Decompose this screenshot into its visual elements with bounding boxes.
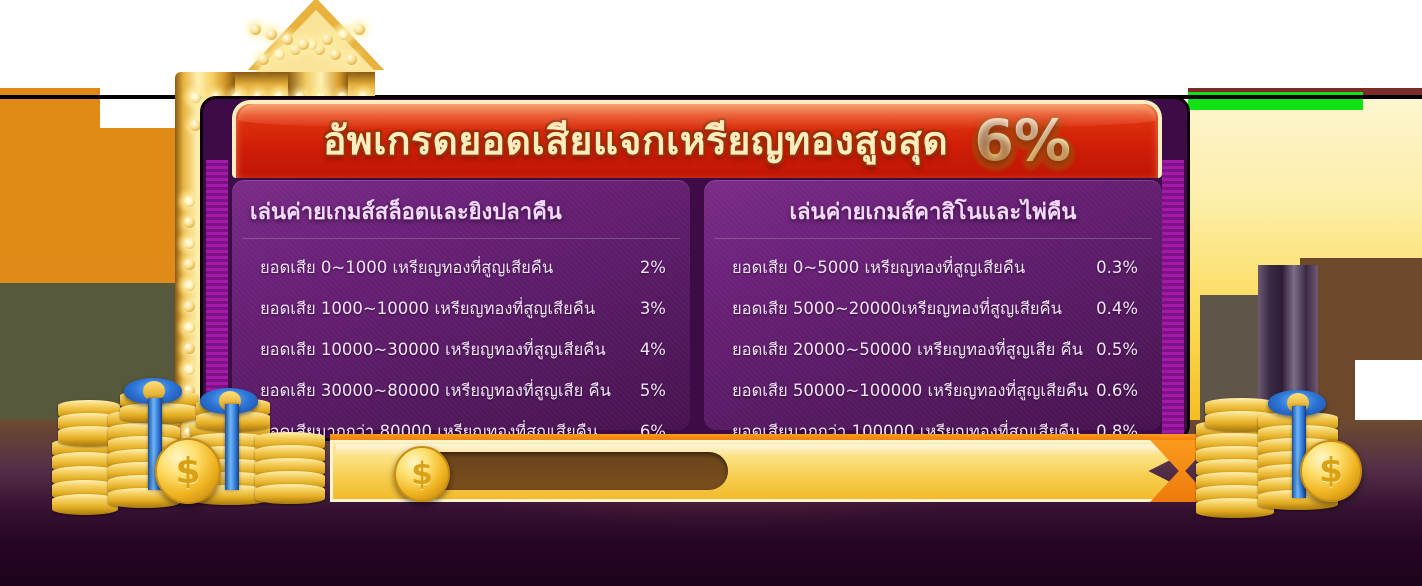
rate-description: ยอดเสีย 0~1000 เหรียญทองที่สูญเสียคืน (246, 255, 553, 281)
marquee-bulb-icon (330, 49, 341, 60)
marquee-bulb-icon (184, 217, 195, 228)
marquee-bulb-icon (250, 24, 261, 35)
sparkle (176, 356, 202, 382)
sparkle (176, 188, 202, 214)
rate-value: 0.4% (1096, 299, 1148, 318)
rate-description: ยอดเสีย 50000~100000 เหรียญทองที่สูญเสีย… (718, 378, 1088, 404)
rate-description: ยอดเสีย 20000~50000 เหรียญทองที่สูญเสีย … (718, 337, 1083, 363)
panel-casino-cards: เล่นค่ายเกมส์คาสิโนและไพ่คืนยอดเสีย 0~50… (704, 180, 1162, 430)
dollar-symbol: $ (157, 440, 219, 502)
rate-description: ยอดเสีย 10000~30000 เหรียญทองที่สูญเสียค… (246, 337, 606, 363)
panel-title: เล่นค่ายเกมส์สล็อตและยิงปลาคืน (232, 180, 690, 238)
marquee-bulb-icon (184, 259, 195, 270)
marquee-bulb-icon (266, 29, 277, 40)
sparkle (176, 230, 202, 256)
rate-value: 0.6% (1096, 381, 1148, 400)
panel-slots-fishing: เล่นค่ายเกมส์สล็อตและยิงปลาคืนยอดเสีย 0~… (232, 180, 690, 430)
rate-value: 0.5% (1096, 340, 1148, 359)
panel-title: เล่นค่ายเกมส์คาสิโนและไพ่คืน (704, 180, 1162, 238)
rate-row: ยอดเสีย 50000~100000 เหรียญทองที่สูญเสีย… (718, 370, 1148, 411)
dollar-coin-icon: $ (394, 446, 450, 502)
rate-row: ยอดเสีย 10000~30000 เหรียญทองที่สูญเสียค… (246, 329, 676, 370)
sparkle (176, 314, 202, 340)
rate-row: ยอดเสีย 20000~50000 เหรียญทองที่สูญเสีย … (718, 329, 1148, 370)
promo-banner: อัพเกรดยอดเสียแจกเหรียญทองสูงสุด 6% เล่น… (0, 0, 1422, 586)
gift-ribbon (225, 404, 239, 490)
rate-row: ยอดเสีย 30000~80000 เหรียญทองที่สูญเสีย … (246, 370, 676, 411)
rate-description: ยอดเสีย 30000~80000 เหรียญทองที่สูญเสีย … (246, 378, 611, 404)
rate-row: ยอดเสีย 0~5000 เหรียญทองที่สูญเสียคืน0.3… (718, 247, 1148, 288)
sparkle (176, 272, 202, 298)
marquee-bulb-icon (184, 343, 195, 354)
marquee-bulb-icon (184, 301, 195, 312)
rate-row: ยอดเสีย 1000~10000 เหรียญทองที่สูญเสียคื… (246, 288, 676, 329)
dollar-coin-icon: $ (1300, 440, 1362, 502)
rate-value: 2% (640, 258, 676, 277)
rate-row: ยอดเสีย 0~1000 เหรียญทองที่สูญเสียคืน2% (246, 247, 676, 288)
dollar-coin-icon: $ (155, 438, 221, 504)
marquee-bulb-icon (354, 24, 365, 35)
dollar-symbol: $ (396, 448, 448, 500)
sparkle (330, 21, 356, 47)
marquee-bulb-icon (346, 54, 357, 65)
dollar-symbol: $ (1302, 442, 1360, 500)
rate-description: ยอดเสีย 0~5000 เหรียญทองที่สูญเสียคืน (718, 255, 1025, 281)
rate-description: ยอดเสีย 1000~10000 เหรียญทองที่สูญเสียคื… (246, 296, 595, 322)
rate-row: ยอดเสีย 5000~20000เหรียญทองที่สูญเสียคืน… (718, 288, 1148, 329)
marquee-bulb-icon (298, 39, 309, 50)
rate-panels: เล่นค่ายเกมส์สล็อตและยิงปลาคืนยอดเสีย 0~… (232, 180, 1162, 430)
title-bar-gloss (238, 104, 1156, 130)
marquee-bulb-icon (282, 34, 293, 45)
rate-rows: ยอดเสีย 0~5000 เหรียญทองที่สูญเสียคืน0.3… (704, 239, 1162, 452)
rate-description: ยอดเสีย 5000~20000เหรียญทองที่สูญเสียคืน (718, 296, 1062, 322)
rate-value: 0.3% (1096, 258, 1148, 277)
rate-value: 5% (640, 381, 676, 400)
rate-value: 3% (640, 299, 676, 318)
card-right-stripe (1162, 160, 1184, 438)
coin-stack-item (255, 484, 325, 504)
rate-value: 4% (640, 340, 676, 359)
rate-rows: ยอดเสีย 0~1000 เหรียญทองที่สูญเสียคืน2%ย… (232, 239, 690, 452)
